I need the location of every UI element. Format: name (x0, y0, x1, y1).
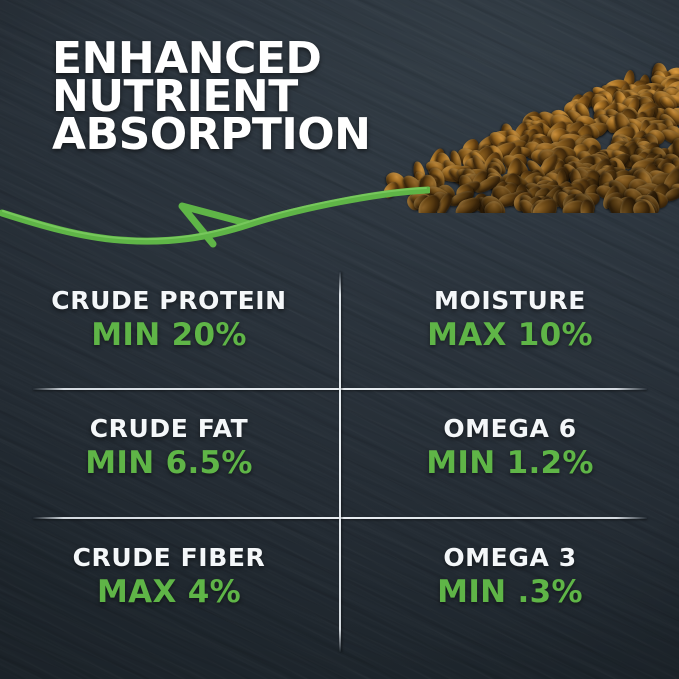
nutrition-label: CRUDE FAT (4, 413, 334, 444)
nutrition-label: MOISTURE (345, 285, 675, 316)
nutrition-cell-omega-3: OMEGA 3 MIN .3% (345, 542, 675, 611)
promo-graphic: ENHANCED NUTRIENT ABSORPTION CRUDE PROTE… (0, 0, 679, 679)
nutrition-value: MIN .3% (345, 573, 675, 611)
nutrition-value: MAX 4% (4, 573, 334, 611)
nutrition-value: MAX 10% (345, 316, 675, 354)
nutrition-cell-crude-fat: CRUDE FAT MIN 6.5% (4, 413, 334, 482)
nutrition-cell-crude-fiber: CRUDE FIBER MAX 4% (4, 542, 334, 611)
grid-divider-vertical (339, 272, 341, 652)
nutrition-cell-crude-protein: CRUDE PROTEIN MIN 20% (4, 285, 334, 354)
nutrition-cell-omega-6: OMEGA 6 MIN 1.2% (345, 413, 675, 482)
nutrition-value: MIN 6.5% (4, 444, 334, 482)
nutrition-value: MIN 20% (4, 316, 334, 354)
page-title: ENHANCED NUTRIENT ABSORPTION (52, 40, 370, 154)
kibble-pile-image (378, 58, 679, 213)
nutrition-label: OMEGA 6 (345, 413, 675, 444)
nutrition-label: CRUDE PROTEIN (4, 285, 334, 316)
nutrition-label: OMEGA 3 (345, 542, 675, 573)
nutrition-value: MIN 1.2% (345, 444, 675, 482)
nutrition-cell-moisture: MOISTURE MAX 10% (345, 285, 675, 354)
nutrition-label: CRUDE FIBER (4, 542, 334, 573)
nutrition-grid: CRUDE PROTEIN MIN 20% MOISTURE MAX 10% C… (0, 265, 679, 655)
headline-line-3: ABSORPTION (52, 116, 370, 154)
